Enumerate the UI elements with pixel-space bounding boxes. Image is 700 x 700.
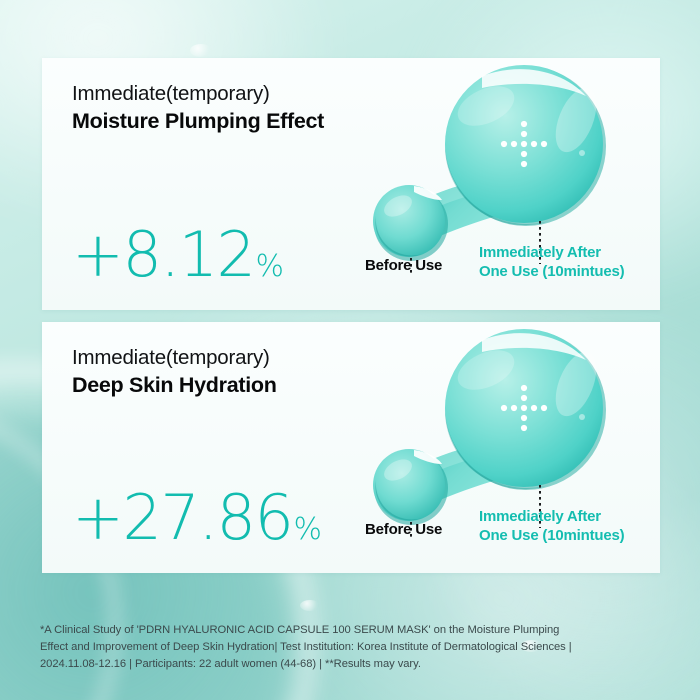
footnote-line3: 2024.11.08-12.16 | Participants: 22 adul… [40, 656, 640, 673]
clinical-study-footnote: *A Clinical Study of 'PDRN HYALURONIC AC… [40, 622, 640, 673]
droplet-large [445, 65, 606, 226]
droplet-large [445, 329, 606, 490]
card-heading-line1: Immediate(temporary) [72, 346, 277, 370]
label-after-line1: Immediately After [479, 508, 601, 525]
droplet-illustration: Before Use Immediately After One Use (10… [354, 322, 654, 573]
footnote-line1: *A Clinical Study of 'PDRN HYALURONIC AC… [40, 622, 640, 639]
result-card-deep-hydration: Immediate(temporary) Deep Skin Hydration… [42, 322, 660, 573]
label-after-use: Immediately After One Use (10mintues) [479, 508, 624, 545]
droplet-small [373, 185, 448, 261]
label-after-line1: Immediately After [479, 244, 601, 261]
stat-block: +8.12 % [72, 226, 284, 284]
label-after-use: Immediately After One Use (10mintues) [479, 244, 624, 281]
infographic-canvas: Immediate(temporary) Moisture Plumping E… [0, 0, 700, 700]
card-heading: Immediate(temporary) Deep Skin Hydration [72, 346, 277, 399]
stat-block: +27.86 % [72, 489, 321, 547]
result-card-moisture-plumping: Immediate(temporary) Moisture Plumping E… [42, 58, 660, 310]
card-heading: Immediate(temporary) Moisture Plumping E… [72, 82, 324, 135]
label-before-use: Before Use [365, 521, 442, 538]
label-after-line2: One Use (10mintues) [479, 263, 624, 280]
stat-unit: % [256, 249, 284, 284]
label-after-line2: One Use (10mintues) [479, 527, 624, 544]
footnote-line2: Effect and Improvement of Deep Skin Hydr… [40, 639, 640, 656]
label-before-use: Before Use [365, 257, 442, 274]
card-heading-line2: Moisture Plumping Effect [72, 109, 324, 134]
droplet-illustration: Before Use Immediately After One Use (10… [354, 58, 654, 310]
card-heading-line2: Deep Skin Hydration [72, 373, 277, 398]
card-heading-line1: Immediate(temporary) [72, 82, 324, 106]
stat-value: +8.12 [72, 226, 255, 283]
stat-unit: % [293, 512, 321, 547]
droplet-small [373, 449, 448, 525]
stat-value: +27.86 [72, 489, 292, 546]
